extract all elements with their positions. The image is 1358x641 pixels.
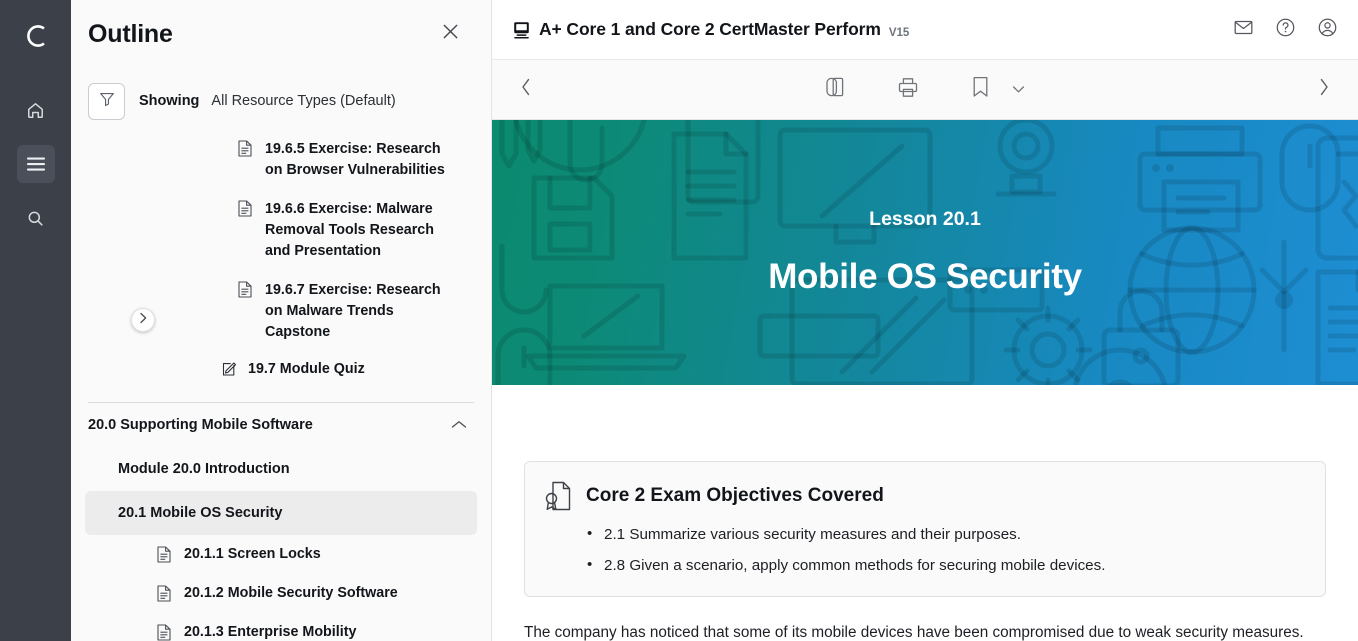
lesson-label: Module 20.0 Introduction: [118, 461, 290, 477]
quiz-pencil-icon: [220, 361, 238, 377]
list-item-label: 19.6.7 Exercise: Research on Malware Tre…: [265, 280, 461, 343]
lesson-banner: Lesson 20.1 Mobile OS Security: [492, 120, 1358, 385]
chevron-down-icon: [1012, 81, 1025, 99]
home-icon: [26, 101, 45, 120]
left-nav-rail: [0, 0, 71, 641]
banner-lesson-label: Lesson 20.1: [869, 208, 981, 231]
course-title: A+ Core 1 and Core 2 CertMaster Perform: [539, 19, 881, 40]
copy-button[interactable]: [821, 75, 851, 105]
help-button[interactable]: [1272, 17, 1298, 43]
outline-scrollbar[interactable]: [479, 270, 487, 641]
list-item[interactable]: 19.6.5 Exercise: Research on Browser Vul…: [71, 130, 491, 190]
list-item: 2.8 Given a scenario, apply common metho…: [587, 556, 1303, 576]
mail-icon: [1233, 17, 1254, 43]
close-icon: [441, 22, 460, 46]
document-icon: [236, 140, 254, 157]
sidebar-item-search[interactable]: [17, 199, 55, 237]
document-icon: [155, 624, 173, 641]
outline-lesson-intro[interactable]: Module 20.0 Introduction: [85, 447, 477, 491]
objectives-title: Core 2 Exam Objectives Covered: [586, 485, 884, 507]
header-actions: [1230, 17, 1340, 43]
banner-heading: Mobile OS Security: [768, 257, 1082, 297]
list-item-label: 20.1.2 Mobile Security Software: [184, 583, 398, 604]
outline-module-header[interactable]: 20.0 Supporting Mobile Software: [71, 403, 491, 447]
objectives-header: Core 2 Exam Objectives Covered: [543, 480, 1303, 512]
outline-header: Outline: [71, 0, 491, 68]
help-circle-icon: [1275, 17, 1296, 43]
exam-objectives-callout: Core 2 Exam Objectives Covered 2.1 Summa…: [524, 461, 1326, 597]
banner-pattern-icons: [492, 120, 1358, 385]
lesson-paragraph: The company has noticed that some of its…: [524, 621, 1326, 641]
certmaster-c-logo-icon[interactable]: [17, 17, 55, 55]
certificate-document-icon: [543, 480, 573, 512]
course-header: A+ Core 1 and Core 2 CertMaster Perform …: [492, 0, 1358, 60]
bookmark-button[interactable]: [965, 75, 995, 105]
filter-showing-label: Showing: [139, 93, 199, 109]
module-title: 20.0 Supporting Mobile Software: [88, 417, 313, 433]
filter-button[interactable]: [88, 83, 125, 120]
search-icon: [26, 209, 45, 228]
outline-lesson-mobile-os-security[interactable]: 20.1 Mobile OS Security: [85, 491, 477, 535]
list-item-label: 20.1.1 Screen Locks: [184, 544, 321, 565]
menu-icon: [26, 156, 46, 172]
document-icon: [236, 200, 254, 217]
document-icon: [155, 585, 173, 602]
content-toolbar: [492, 60, 1358, 120]
sidebar-item-home[interactable]: [17, 91, 55, 129]
list-item: 2.1 Summarize various security measures …: [587, 525, 1303, 545]
chevron-right-icon: [1318, 78, 1330, 101]
objectives-list: 2.1 Summarize various security measures …: [587, 525, 1303, 576]
list-item-label: 19.7 Module Quiz: [248, 359, 365, 380]
previous-page-button[interactable]: [510, 74, 542, 106]
main-content: A+ Core 1 and Core 2 CertMaster Perform …: [492, 0, 1358, 641]
resource-filter-row: Showing All Resource Types (Default): [71, 68, 491, 130]
list-item[interactable]: 19.6.6 Exercise: Malware Removal Tools R…: [71, 190, 491, 271]
course-version-badge: V15: [889, 27, 909, 39]
outline-list: 19.6.5 Exercise: Research on Browser Vul…: [71, 130, 491, 641]
lesson-body: Core 2 Exam Objectives Covered 2.1 Summa…: [492, 385, 1358, 641]
monitor-icon: [513, 21, 530, 39]
page-title: Outline: [88, 20, 173, 49]
sidebar-item-outline[interactable]: [17, 145, 55, 183]
list-item[interactable]: 20.1.3 Enterprise Mobility Management: [71, 613, 491, 641]
list-item[interactable]: 20.1.1 Screen Locks: [71, 535, 491, 574]
close-outline-button[interactable]: [435, 19, 465, 49]
next-page-button[interactable]: [1308, 74, 1340, 106]
list-item-label: 19.6.5 Exercise: Research on Browser Vul…: [265, 139, 461, 181]
bookmark-icon: [972, 76, 989, 103]
chevron-up-icon[interactable]: [451, 420, 467, 430]
list-item-label: 19.6.6 Exercise: Malware Removal Tools R…: [265, 199, 461, 262]
list-item-label: 20.1.3 Enterprise Mobility Management: [184, 622, 429, 641]
lesson-label: 20.1 Mobile OS Security: [118, 505, 282, 521]
outline-panel: Outline Showing All Resource T: [71, 0, 492, 641]
bookmark-options-button[interactable]: [1007, 79, 1029, 101]
app-root: Outline Showing All Resource T: [0, 0, 1358, 641]
document-icon: [155, 546, 173, 563]
print-icon: [898, 77, 918, 103]
chevron-right-icon: [138, 311, 148, 329]
user-circle-icon: [1317, 17, 1338, 43]
account-button[interactable]: [1314, 17, 1340, 43]
chevron-left-icon: [520, 78, 532, 101]
document-icon: [236, 281, 254, 298]
list-item-quiz[interactable]: 19.7 Module Quiz: [71, 352, 491, 389]
print-button[interactable]: [893, 75, 923, 105]
filter-selected-value[interactable]: All Resource Types (Default): [211, 93, 395, 109]
copy-icon: [826, 76, 846, 103]
toolbar-center-actions: [492, 75, 1358, 105]
list-item[interactable]: 20.1.2 Mobile Security Software: [71, 574, 491, 613]
collapse-panel-button[interactable]: [131, 308, 155, 332]
filter-icon: [98, 90, 116, 113]
mail-button[interactable]: [1230, 17, 1256, 43]
